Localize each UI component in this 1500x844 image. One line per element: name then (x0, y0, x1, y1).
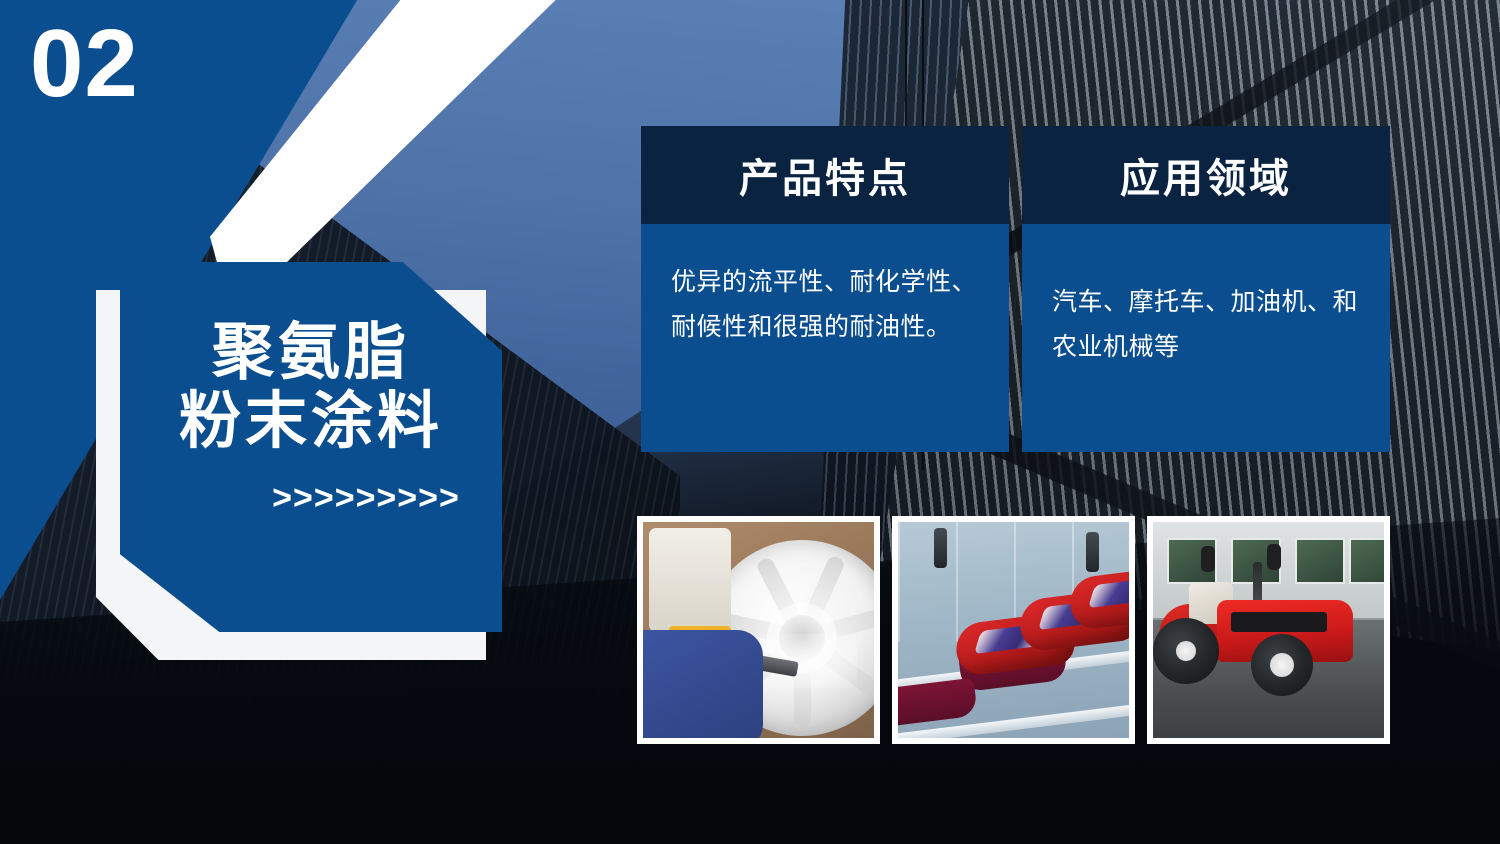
tank-skirt-2 (892, 678, 978, 729)
card-header-application-fields: 应用领域 (1022, 126, 1390, 224)
coating-nozzle-1 (1086, 532, 1099, 572)
title-line-2: 粉末涂料 (120, 387, 502, 456)
card-body-text: 优异的流平性、耐化学性、耐候性和很强的耐油性。 (671, 260, 981, 349)
tractor-mirror-right (1267, 544, 1281, 570)
photo-motorcycle-fuel-tanks-conveyor (892, 516, 1135, 744)
card-header-label: 应用领域 (1120, 146, 1292, 204)
tractor-front-tire (1251, 634, 1313, 696)
card-product-features: 产品特点 优异的流平性、耐化学性、耐候性和很强的耐油性。 (641, 126, 1009, 452)
photo-powder-coating-alloy-wheel (637, 516, 880, 744)
card-header-label: 产品特点 (739, 146, 911, 204)
tractor-hood-stripe (1231, 612, 1327, 632)
spray-gun-hopper (649, 528, 731, 632)
chevron-arrows-icon: >>>>>>>>> (120, 479, 502, 518)
card-body-text: 汽车、摩托车、加油机、和农业机械等 (1052, 280, 1362, 369)
section-number: 02 (30, 16, 139, 112)
card-body-product-features: 优异的流平性、耐化学性、耐候性和很强的耐油性。 (641, 224, 1009, 452)
coating-nozzle-2 (934, 528, 947, 568)
tractor-rear-tire (1153, 618, 1219, 684)
title-panel: 聚氨脂 粉末涂料 >>>>>>>>> (120, 262, 502, 632)
title-line-1: 聚氨脂 (120, 318, 502, 387)
card-application-fields: 应用领域 汽车、摩托车、加油机、和农业机械等 (1022, 126, 1390, 452)
photo-red-agricultural-tractor (1147, 516, 1390, 744)
card-body-application-fields: 汽车、摩托车、加油机、和农业机械等 (1022, 224, 1390, 452)
tractor-mirror-left (1201, 546, 1215, 572)
card-header-product-features: 产品特点 (641, 126, 1009, 224)
operator-sleeve (637, 630, 763, 744)
info-cards: 产品特点 优异的流平性、耐化学性、耐候性和很强的耐油性。 应用领域 汽车、摩托车… (641, 126, 1390, 452)
slide-root: 02 聚氨脂 粉末涂料 >>>>>>>>> 产品特点 优异的流平性、耐化学性、耐… (0, 0, 1500, 844)
photo-strip (637, 516, 1390, 744)
